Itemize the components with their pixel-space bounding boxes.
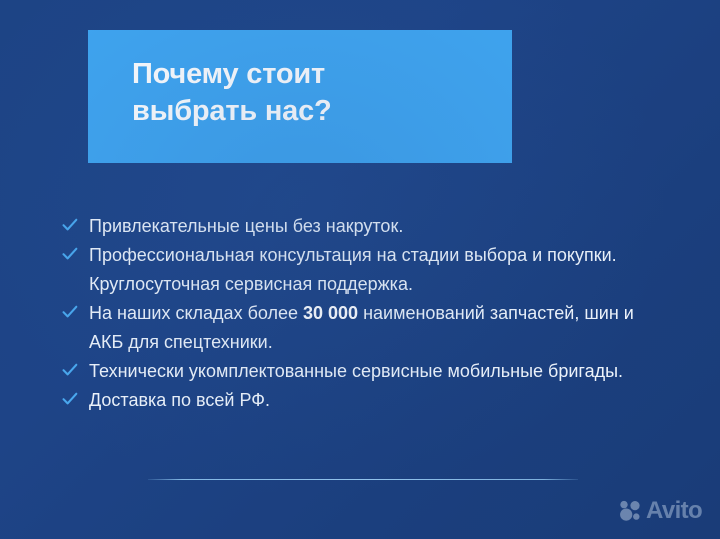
check-icon — [62, 218, 78, 238]
benefits-list: Привлекательные цены без накруток. Профе… — [62, 212, 672, 415]
list-item-text: Привлекательные цены без накруток. — [89, 212, 672, 241]
list-item-text-strong: 30 000 — [303, 303, 358, 323]
title-banner: Почему стоит выбрать нас? — [88, 30, 512, 163]
avito-watermark: Avito — [619, 499, 702, 523]
list-item-text-pre: Технически укомплектованные сервисные мо… — [89, 361, 623, 381]
list-item-text-pre: Доставка по всей РФ. — [89, 390, 270, 410]
title-line-2: выбрать нас? — [132, 93, 512, 130]
list-item: Технически укомплектованные сервисные мо… — [62, 357, 672, 386]
check-icon — [62, 305, 78, 325]
list-item-text: Технически укомплектованные сервисные мо… — [89, 357, 672, 386]
list-item: На наших складах более 30 000 наименован… — [62, 299, 672, 357]
list-item: Привлекательные цены без накруток. — [62, 212, 672, 241]
avito-wordmark: Avito — [646, 499, 702, 523]
check-icon — [62, 247, 78, 267]
list-item-text: Профессиональная консультация на стадии … — [89, 241, 672, 299]
list-item-text-pre: Привлекательные цены без накруток. — [89, 216, 403, 236]
check-icon — [62, 392, 78, 412]
list-item: Доставка по всей РФ. — [62, 386, 672, 415]
list-item: Профессиональная консультация на стадии … — [62, 241, 672, 299]
avito-dots-icon — [619, 500, 642, 523]
divider — [148, 479, 578, 480]
list-item-text: Доставка по всей РФ. — [89, 386, 672, 415]
list-item-text-pre: Профессиональная консультация на стадии … — [89, 245, 617, 294]
list-item-text-pre: На наших складах более — [89, 303, 303, 323]
list-item-text: На наших складах более 30 000 наименован… — [89, 299, 672, 357]
check-icon — [62, 363, 78, 383]
slide-canvas: Почему стоит выбрать нас? Привлекательны… — [0, 0, 720, 539]
title-line-1: Почему стоит — [132, 56, 512, 93]
